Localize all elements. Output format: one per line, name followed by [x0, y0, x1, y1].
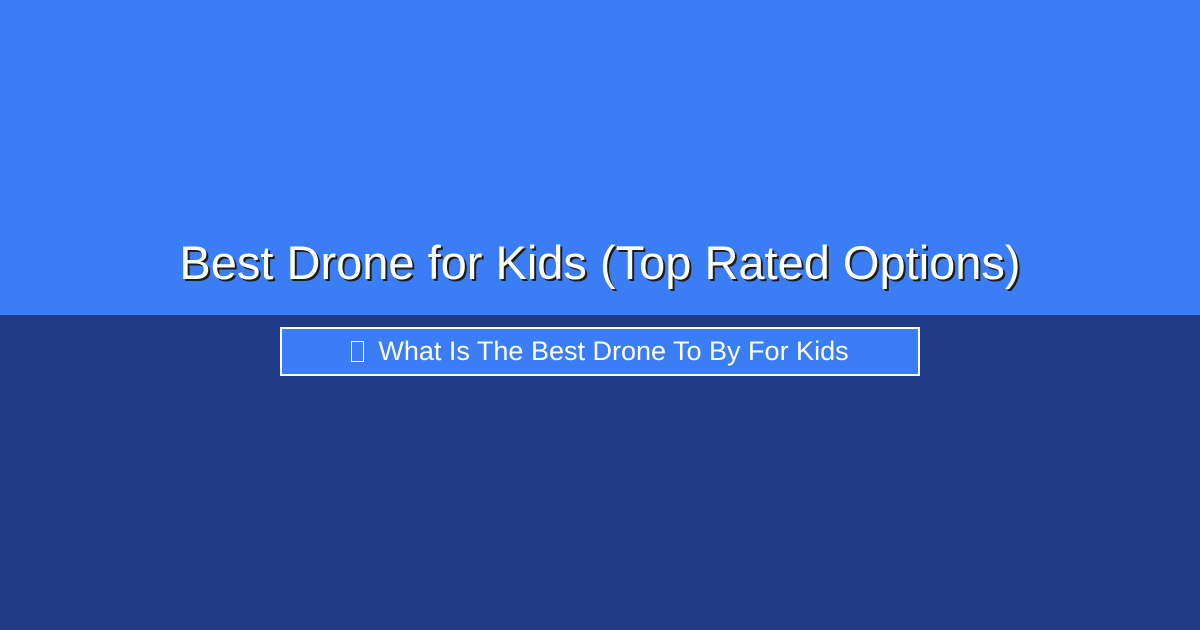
headline-question-button[interactable]: What Is The Best Drone To By For Kids: [280, 327, 920, 376]
missing-glyph-box-icon: [351, 341, 364, 362]
page-title: Best Drone for Kids (Top Rated Options): [0, 234, 1200, 292]
social-card-canvas: Best Drone for Kids (Top Rated Options) …: [0, 0, 1200, 630]
headline-question-button-label: What Is The Best Drone To By For Kids: [378, 336, 848, 367]
